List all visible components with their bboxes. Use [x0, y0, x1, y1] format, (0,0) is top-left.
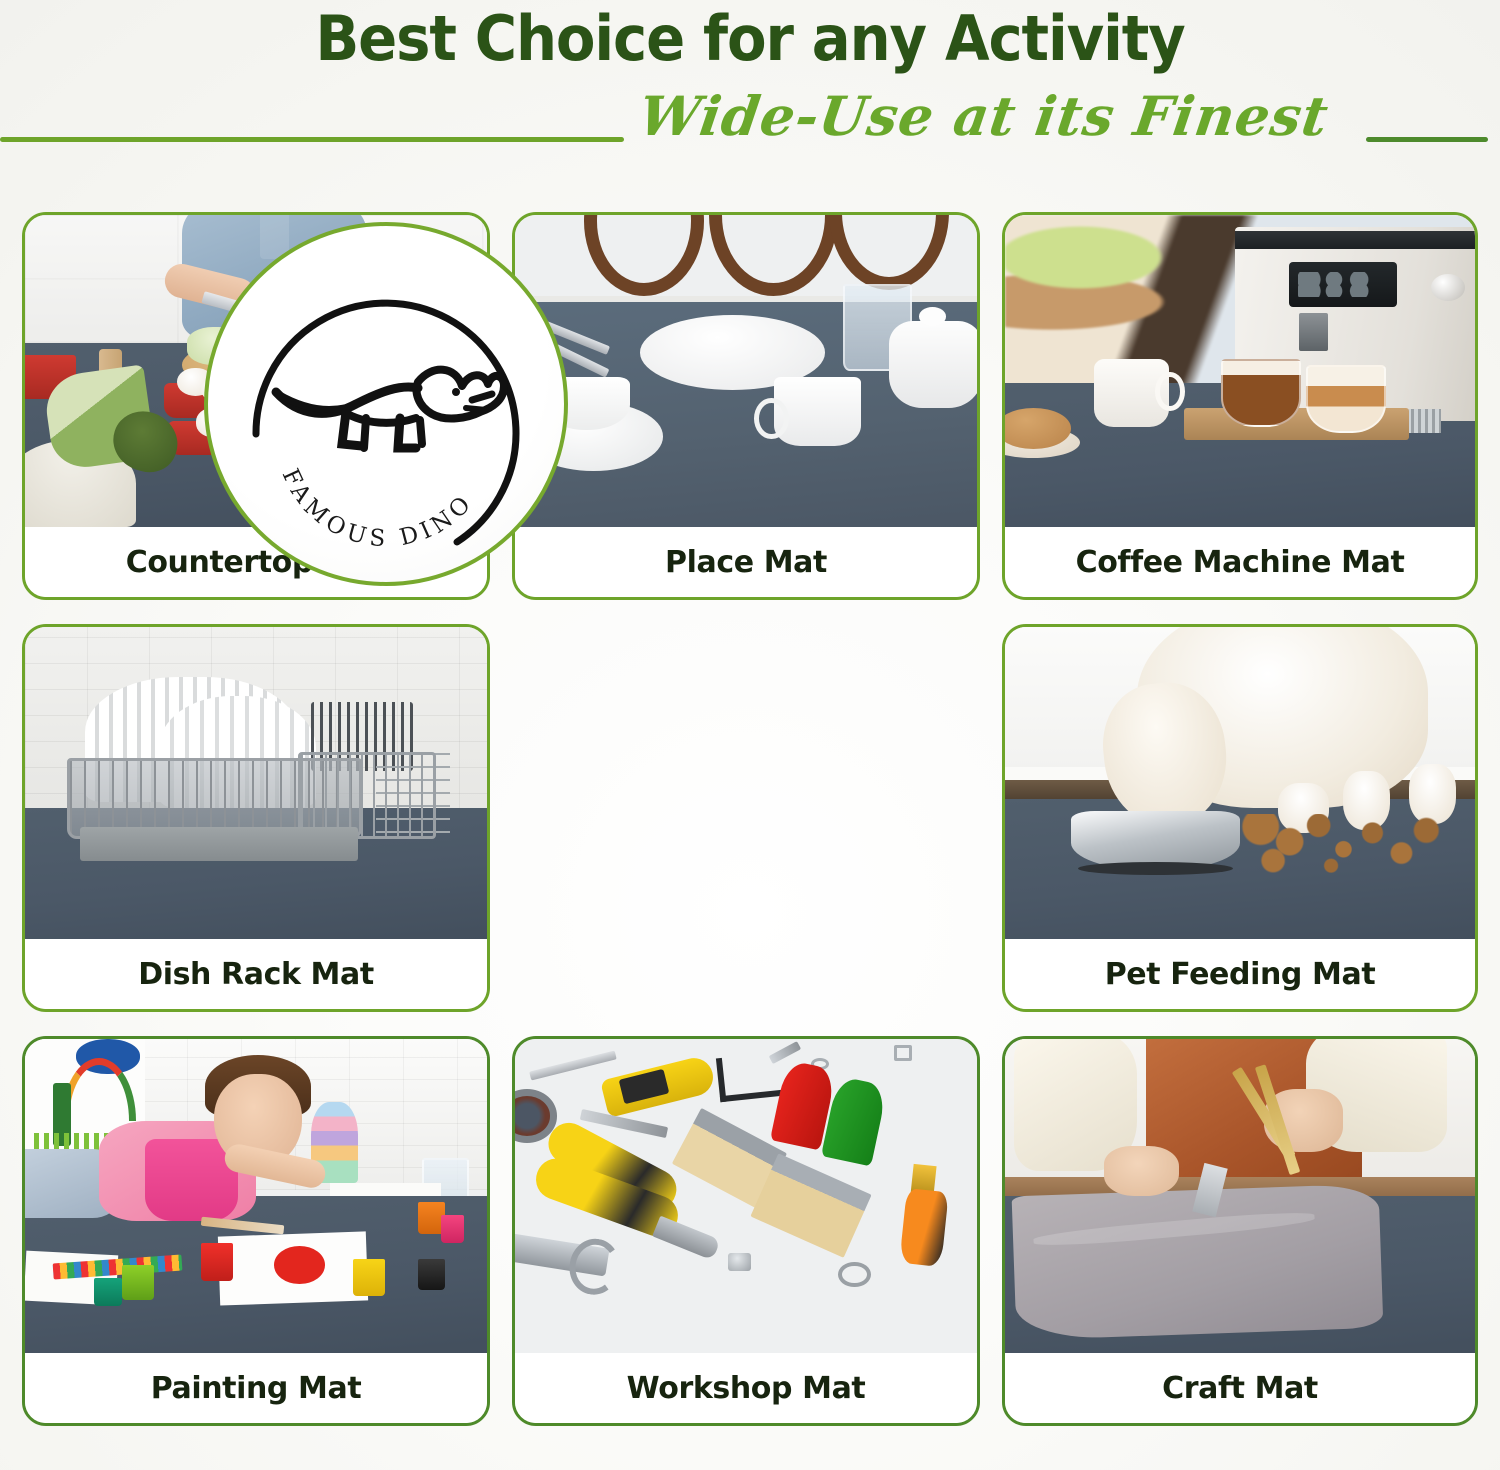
nut: [894, 1045, 912, 1061]
page-subtitle: Wide-Use at its Finest: [610, 84, 1359, 148]
hex-nut: [838, 1262, 870, 1287]
divider-right: [1366, 137, 1488, 142]
bentwood-chair-back: [709, 215, 838, 296]
card-caption: Coffee Machine Mat: [1005, 527, 1475, 597]
bentwood-chair-back: [829, 215, 949, 290]
drip-tray: [80, 827, 357, 861]
feature-card-painting-mat[interactable]: Painting Mat: [22, 1036, 490, 1426]
feature-grid: Countertop Mat Place Mat: [22, 212, 1478, 1426]
photo-espresso-machine-two-cups: [1005, 215, 1475, 527]
feature-card-pet-feeding-mat[interactable]: Pet Feeding Mat: [1002, 624, 1478, 1012]
screw: [769, 1041, 802, 1064]
feature-card-dish-rack-mat[interactable]: Dish Rack Mat: [22, 624, 490, 1012]
espresso-glass-cup: [1221, 359, 1301, 428]
feature-card-coffee-machine-mat[interactable]: Coffee Machine Mat: [1002, 212, 1478, 600]
touch-control-panel: [1289, 262, 1397, 306]
feature-card-craft-mat[interactable]: Craft Mat: [1002, 1036, 1478, 1426]
triceratops-icon: FAMOUS DINO: [204, 222, 568, 586]
card-caption: Pet Feeding Mat: [1005, 939, 1475, 1009]
logo-brand-text: FAMOUS DINO: [277, 465, 480, 552]
coffee-mug: [774, 377, 862, 446]
header-banner: Best Choice for any Activity Wide-Use at…: [0, 0, 1500, 190]
utility-knife-handle: [899, 1188, 948, 1267]
teal-paint-jar: [94, 1278, 122, 1306]
red-paint-jar: [201, 1243, 233, 1281]
machine-top-panel: [1235, 231, 1475, 248]
yellow-paint-jar: [353, 1259, 385, 1297]
divider-left: [0, 137, 624, 142]
feature-card-workshop-mat[interactable]: Workshop Mat: [512, 1036, 980, 1426]
photo-dish-rack-with-plates: [25, 627, 487, 939]
milk-pitcher: [1094, 359, 1169, 428]
pliers-nose: [652, 1216, 720, 1261]
stainless-steel-bowl: [1071, 811, 1240, 870]
card-caption: Dish Rack Mat: [25, 939, 487, 1009]
photo-table-setting-white-dinnerware: [515, 215, 977, 527]
subtitle-row: Wide-Use at its Finest: [0, 88, 1500, 188]
feature-card-place-mat[interactable]: Place Mat: [512, 212, 980, 600]
photo-cutting-fabric-with-scissors: [1005, 1039, 1475, 1353]
svg-text:FAMOUS DINO: FAMOUS DINO: [277, 465, 480, 552]
red-paint-circle: [274, 1246, 325, 1284]
photo-tools-flat-lay: [515, 1039, 977, 1353]
screwdriver-shaft: [529, 1050, 616, 1080]
card-caption: Place Mat: [515, 527, 977, 597]
page-title: Best Choice for any Activity: [53, 4, 1448, 73]
card-caption: Craft Mat: [1005, 1353, 1475, 1423]
photo-dog-eating-from-bowl: [1005, 627, 1475, 939]
teapot: [889, 321, 977, 408]
pink-paint-jar: [441, 1215, 464, 1243]
brand-logo: FAMOUS DINO: [204, 222, 568, 586]
card-caption: Painting Mat: [25, 1353, 487, 1423]
rotary-knob: [1431, 274, 1465, 301]
green-paint-jar: [122, 1265, 154, 1300]
girl-pink-apron: [145, 1139, 237, 1221]
coffee-spout: [1299, 313, 1328, 352]
wrench: [515, 1231, 609, 1276]
photo-girl-painting-on-paper: [25, 1039, 487, 1353]
black-paint-jar: [418, 1259, 446, 1290]
latte-glass-cup: [1306, 365, 1386, 434]
bolt: [728, 1253, 751, 1272]
card-caption: Workshop Mat: [515, 1353, 977, 1423]
scattered-kibble: [1240, 814, 1447, 876]
bentwood-chair-back: [584, 215, 704, 296]
left-hand: [1104, 1146, 1179, 1196]
